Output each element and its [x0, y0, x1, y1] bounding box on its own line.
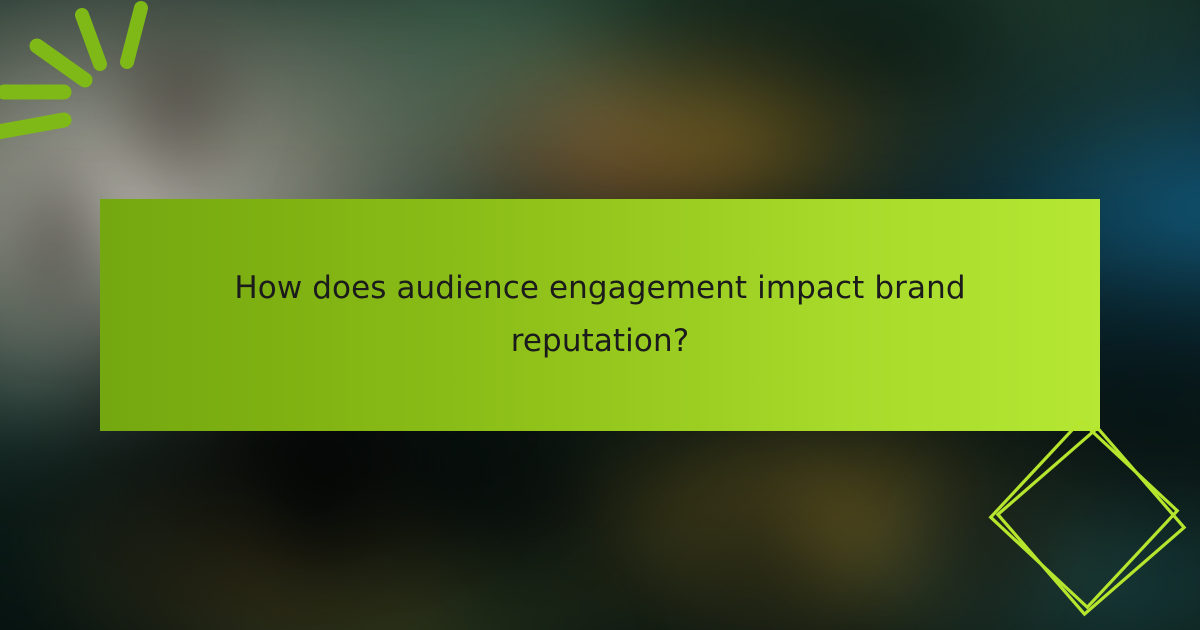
headline-panel: How does audience engagement impact bran… [100, 199, 1100, 431]
overlapping-squares-icon [985, 415, 1200, 630]
sunburst-icon [0, 0, 196, 166]
headline-text: How does audience engagement impact bran… [160, 262, 1040, 369]
quote-card: How does audience engagement impact bran… [0, 0, 1200, 630]
